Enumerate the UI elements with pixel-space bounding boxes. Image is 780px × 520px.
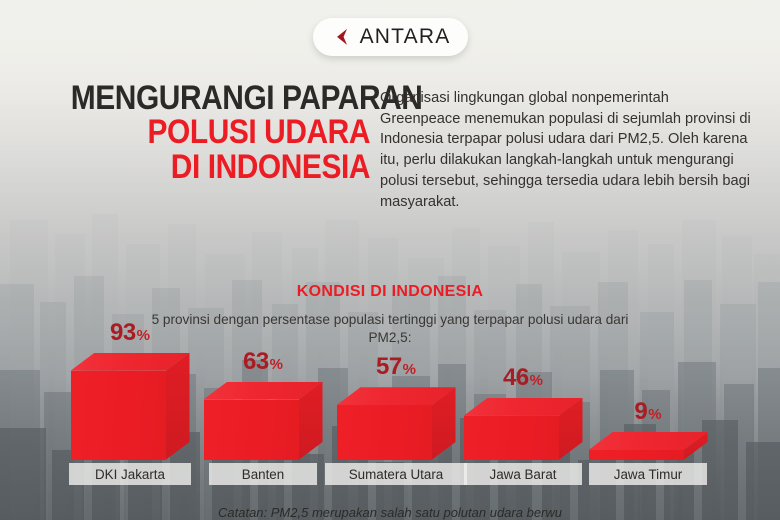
percent-sign: % <box>530 372 543 389</box>
infographic-canvas: ANTARA MENGURANGI PAPARAN POLUSI UDARA D… <box>0 0 780 520</box>
cube-front-face <box>204 400 299 460</box>
bar-category-text: Banten <box>242 467 284 482</box>
cube-side-face <box>166 353 190 460</box>
bar-category-label: DKI Jakarta <box>69 463 191 485</box>
bar-category-text: Jawa Barat <box>490 467 557 482</box>
percent-sign: % <box>137 327 150 344</box>
headline-line-1: MENGURANGI PAPARAN <box>71 83 370 114</box>
antara-logo: ANTARA <box>313 18 468 56</box>
cube-front-face <box>464 416 559 460</box>
bar-value-label: 46% <box>464 364 583 392</box>
bar-value-number: 57 <box>376 353 402 380</box>
bar-category-text: DKI Jakarta <box>95 467 165 482</box>
antara-arrow-icon <box>331 26 353 48</box>
bar-group: 46%Jawa Barat <box>464 330 583 490</box>
bar-category-label: Sumatera Utara <box>325 463 467 485</box>
section-title: KONDISI DI INDONESIA <box>0 283 780 301</box>
bar-value-number: 46 <box>503 364 529 391</box>
bar-category-label: Jawa Barat <box>464 463 582 485</box>
cube-front-face <box>71 371 166 460</box>
cube-front-face <box>337 405 432 460</box>
intro-paragraph: Organisasi lingkungan global nonpemerint… <box>380 88 752 212</box>
bar-chart: 93%DKI Jakarta63%Banten57%Sumatera Utara… <box>0 330 780 490</box>
antara-logo-text: ANTARA <box>360 25 451 49</box>
headline-line-2: POLUSI UDARA <box>71 117 370 148</box>
percent-sign: % <box>403 361 416 378</box>
headline-line-3: DI INDONESIA <box>71 152 370 183</box>
bar-cube <box>204 382 323 460</box>
bar-value-label: 57% <box>337 353 456 381</box>
bar-group: 63%Banten <box>204 330 323 490</box>
bar-value-number: 9 <box>634 398 647 425</box>
bar-cube <box>464 398 583 460</box>
bar-cube <box>337 387 456 460</box>
bar-value-number: 93 <box>110 319 136 346</box>
bar-category-text: Sumatera Utara <box>349 467 444 482</box>
percent-sign: % <box>270 356 283 373</box>
bar-category-text: Jawa Timur <box>614 467 682 482</box>
bar-cube <box>589 432 708 460</box>
bar-value-label: 63% <box>204 348 323 376</box>
footnote: Catatan: PM2,5 merupakan salah satu polu… <box>0 505 780 520</box>
bar-value-number: 63 <box>243 348 269 375</box>
bar-category-label: Jawa Timur <box>589 463 707 485</box>
bar-group: 93%DKI Jakarta <box>71 330 190 490</box>
cube-front-face <box>589 450 684 460</box>
percent-sign: % <box>648 406 661 423</box>
page-title: MENGURANGI PAPARAN POLUSI UDARA DI INDON… <box>30 83 370 183</box>
bar-category-label: Banten <box>209 463 317 485</box>
bar-cube <box>71 353 190 460</box>
bar-group: 57%Sumatera Utara <box>337 330 456 490</box>
bar-value-label: 9% <box>589 398 708 426</box>
bar-value-label: 93% <box>71 319 190 347</box>
bar-group: 9%Jawa Timur <box>589 330 708 490</box>
